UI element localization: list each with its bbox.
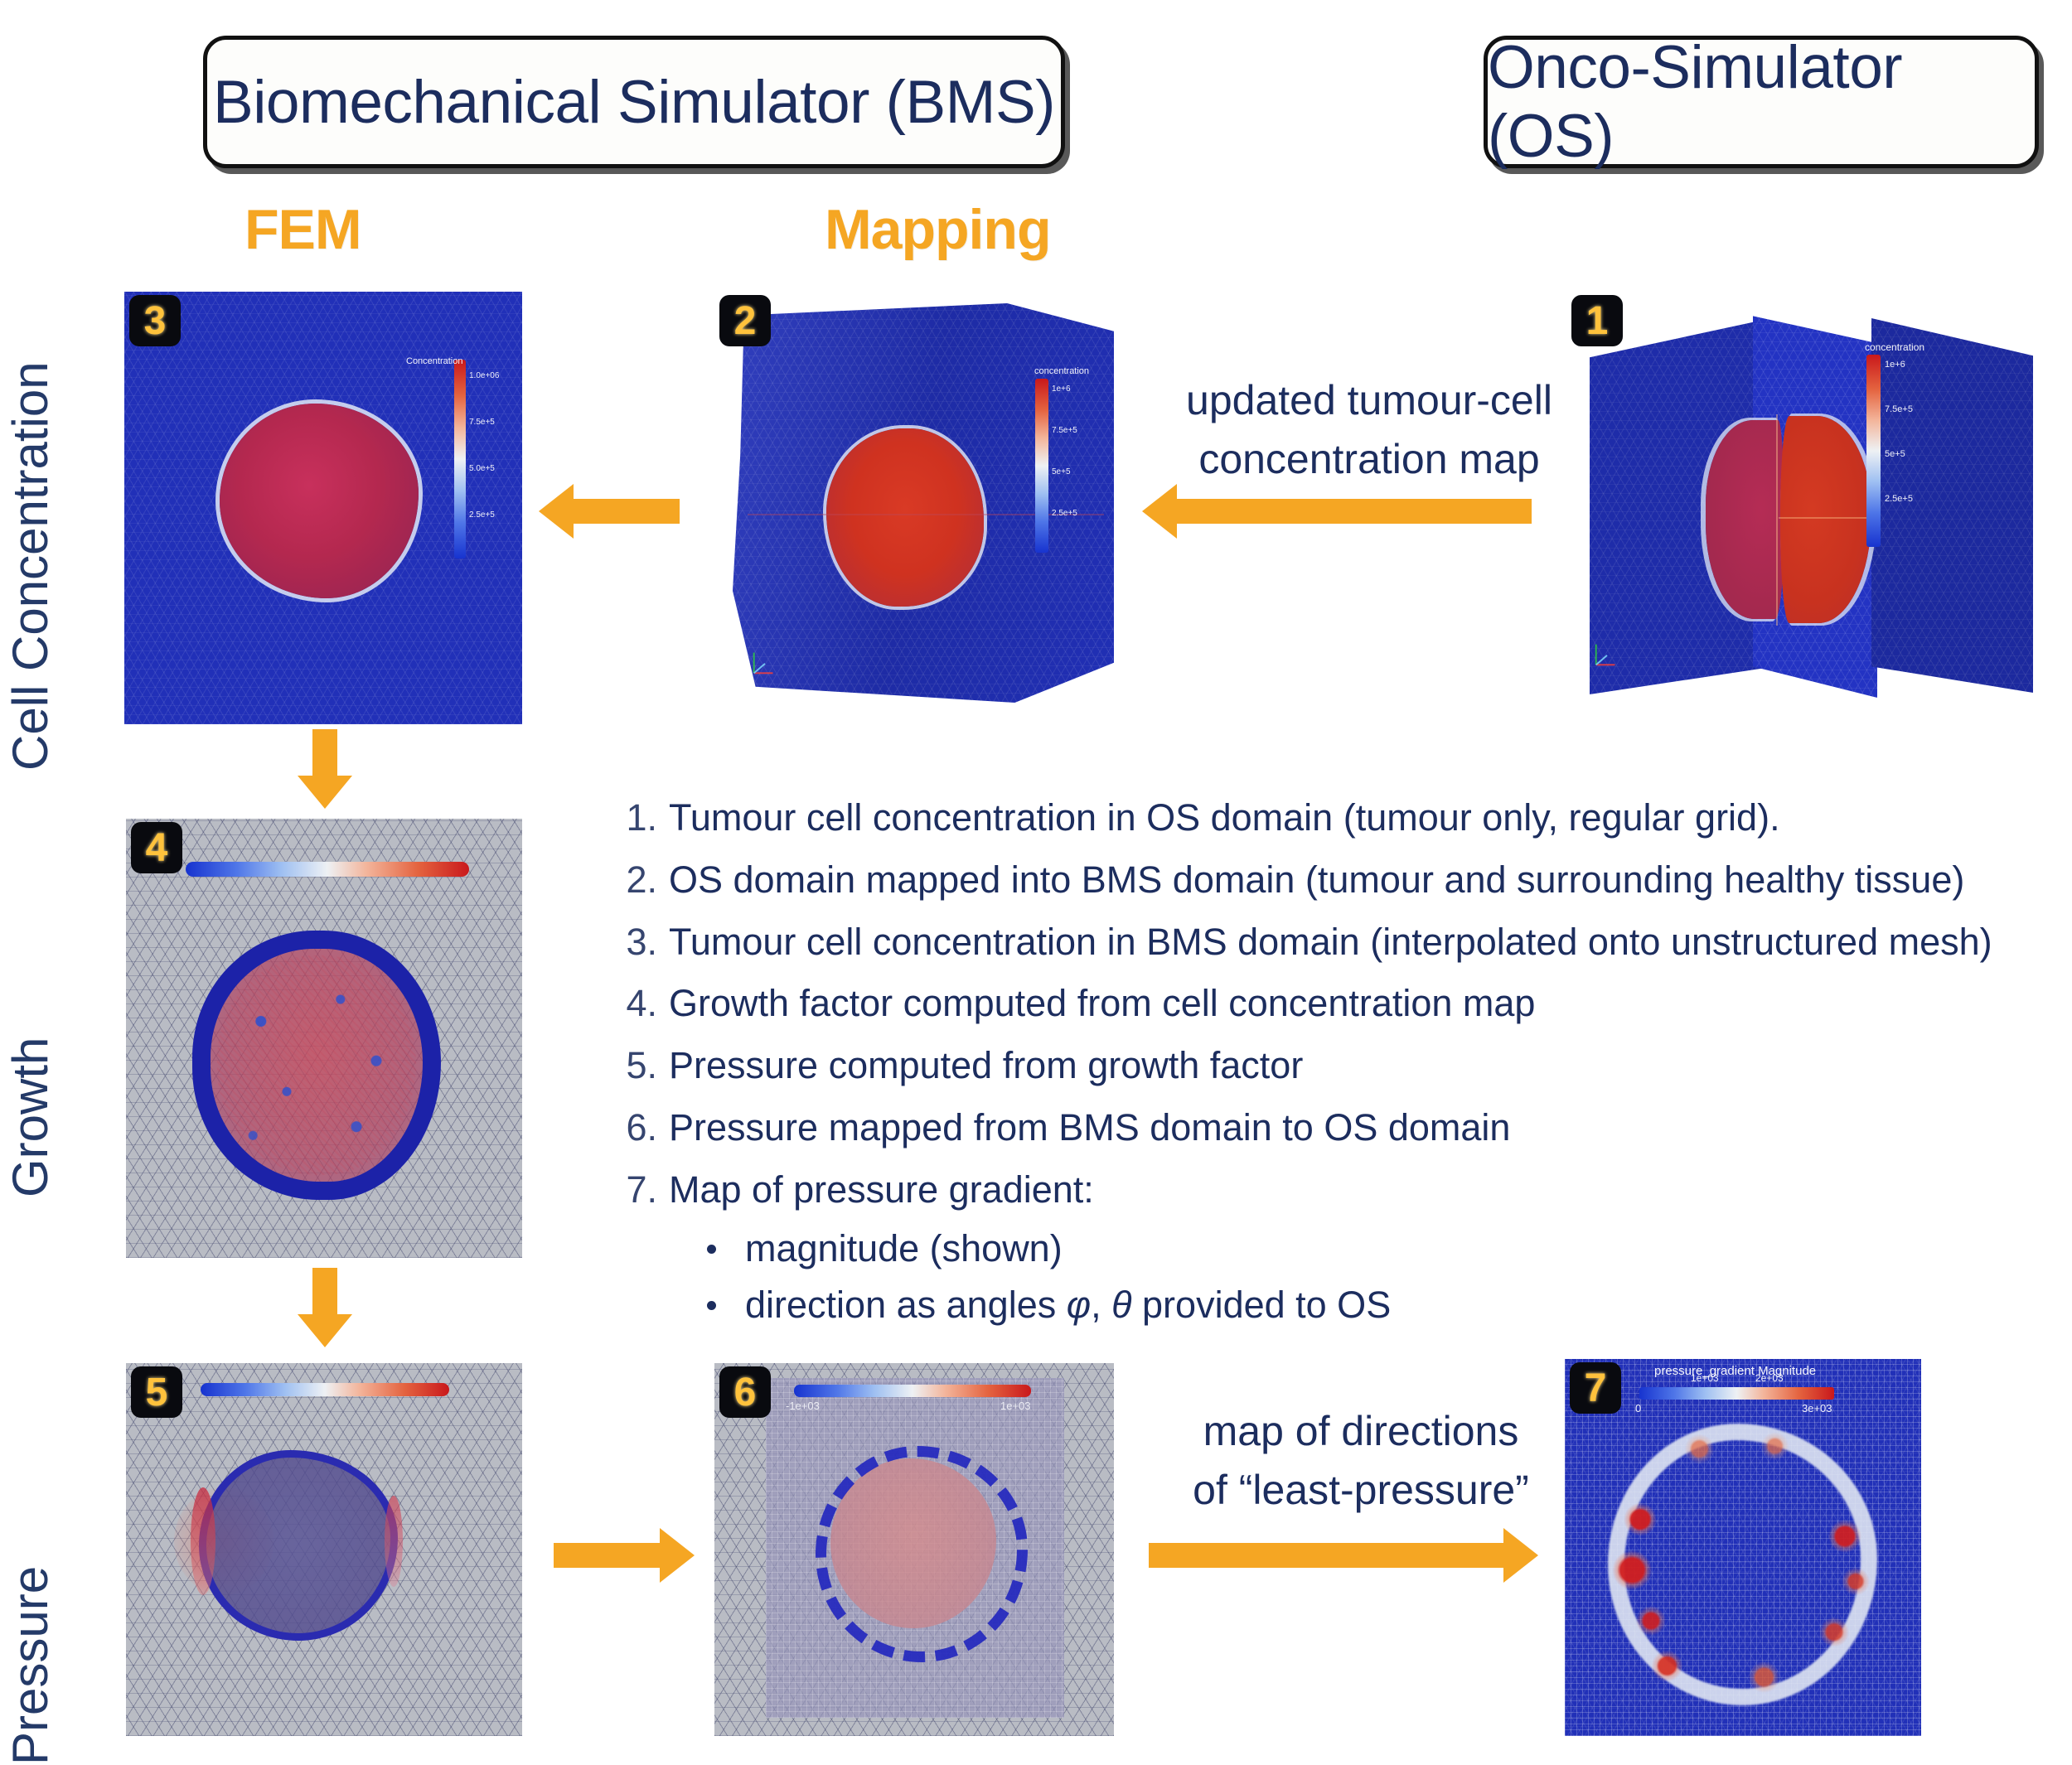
step-item-3: 3. Tumour cell concentration in BMS doma…: [609, 916, 2051, 970]
os-domain-right-wing: [1871, 318, 2033, 693]
panel-4-badge: 4: [131, 822, 182, 873]
step-number-1: 1.: [609, 791, 657, 845]
step-number-7: 7.: [609, 1163, 657, 1217]
arrow-panel3-to-panel4: [312, 729, 337, 777]
panel-5-pressure-fem[interactable]: 5: [126, 1363, 522, 1736]
panel-3-colorbar-title: Concentration: [406, 356, 463, 366]
panel-3-colorbar-tick-1: 7.5e+5: [469, 418, 495, 427]
panel-1-colorbar-tick-1: 7.5e+5: [1885, 404, 1913, 414]
step-text-7: Map of pressure gradient:: [669, 1168, 1094, 1211]
panel-7-colorbar-tick-3: 3e+03: [1802, 1402, 1832, 1414]
sub-bullet-magnitude-text: magnitude (shown): [745, 1227, 1063, 1269]
step-text-4: Growth factor computed from cell concent…: [669, 982, 1535, 1024]
step-text-6: Pressure mapped from BMS domain to OS do…: [669, 1106, 1510, 1148]
slice-seam-line: [1776, 414, 1778, 626]
step-text-5: Pressure computed from growth factor: [669, 1044, 1303, 1086]
os-title-box: Onco-Simulator (OS): [1484, 36, 2039, 168]
step-number-2: 2.: [609, 853, 657, 907]
row-label-cell-concentration: Cell Concentration: [2, 273, 59, 771]
panel-7-colorbar-title: pressure_gradient Magnitude: [1654, 1364, 1816, 1378]
step-7-sub-bullets: magnitude (shown) direction as angles φ,…: [669, 1222, 2051, 1333]
panel-6-colorbar-tick-max: 1e+03: [1000, 1400, 1031, 1412]
axes-triad-icon: [1591, 638, 1623, 670]
panel-5-colorbar: [201, 1383, 449, 1396]
bullet-dot-icon: [707, 1301, 716, 1310]
bullet-dot-icon: [707, 1245, 716, 1254]
arrow-caption-line-1: updated tumour-cell: [1154, 371, 1585, 430]
steps-list: 1. Tumour cell concentration in OS domai…: [609, 791, 2051, 1341]
panel-7-badge: 7: [1570, 1362, 1621, 1414]
sub-bullet-direction: direction as angles φ, θ provided to OS: [669, 1279, 2051, 1332]
step-number-4: 4.: [609, 977, 657, 1031]
os-title-text: Onco-Simulator (OS): [1488, 33, 2035, 171]
step-item-5: 5. Pressure computed from growth factor: [609, 1039, 2051, 1093]
panel-3-fem-concentration[interactable]: 3 Concentration 1.0e+06 7.5e+5 5.0e+5 2.…: [124, 292, 522, 724]
step-item-1: 1. Tumour cell concentration in OS domai…: [609, 791, 2051, 845]
step-number-6: 6.: [609, 1101, 657, 1155]
panel-3-colorbar-tick-3: 2.5e+5: [469, 510, 495, 520]
arrow-caption-least-pressure: map of directions of “least-pressure”: [1154, 1402, 1568, 1520]
panel-7-pressure-gradient[interactable]: 7 pressure_gradient Magnitude 0 1e+03 2e…: [1565, 1359, 1921, 1736]
slice-seam-line-h: [1779, 517, 1876, 519]
column-header-fem: FEM: [244, 197, 361, 262]
panel-6-colorbar-tick-min: -1e+03: [786, 1400, 820, 1412]
arrow-panel5-to-panel6: [554, 1543, 661, 1568]
panel-2-colorbar-tick-0: 1e+6: [1052, 384, 1071, 394]
panel-2-badge: 2: [719, 295, 771, 346]
bms-title-text: Biomechanical Simulator (BMS): [213, 68, 1055, 137]
panel-1-colorbar-title: concentration: [1865, 341, 1924, 353]
step-text-2: OS domain mapped into BMS domain (tumour…: [669, 858, 1964, 901]
panel-6-pressure-mapped[interactable]: 6 -1e+03 1e+03: [714, 1363, 1114, 1736]
sub-bullet-direction-post: provided to OS: [1132, 1284, 1392, 1326]
row-label-pressure: Pressure: [2, 1434, 59, 1765]
step-item-4: 4. Growth factor computed from cell conc…: [609, 977, 2051, 1031]
pressure-edge-red-left: [191, 1487, 215, 1595]
panel-5-badge: 5: [131, 1366, 182, 1418]
pressure-edge-red-right: [385, 1496, 403, 1587]
panel-2-mapped-block[interactable]: 2 concentration 1e+6 7.5e+5 5e+5 2.5e+5: [714, 292, 1137, 724]
panel-1-os-domain[interactable]: 1 concentration 1e+6 7.5e+5 5e+5 2.5e+5: [1566, 292, 2064, 724]
panel-7-colorbar-tick-0: 0: [1635, 1402, 1641, 1414]
panel-1-colorbar-tick-3: 2.5e+5: [1885, 494, 1913, 504]
step-item-7: 7. Map of pressure gradient: magnitude (…: [609, 1163, 2051, 1332]
column-header-mapping: Mapping: [825, 197, 1051, 262]
symbol-phi: φ: [1067, 1284, 1091, 1326]
panel-3-badge: 3: [129, 295, 181, 346]
tumour-region: [826, 428, 984, 607]
slice-plane-line-h: [748, 514, 1104, 515]
panel-1-colorbar: [1866, 355, 1881, 547]
steps-ordered-list: 1. Tumour cell concentration in OS domai…: [609, 791, 2051, 1332]
panel-7-colorbar-tick-1: 1e+03: [1691, 1372, 1719, 1384]
arrow-caption-line-2: concentration map: [1154, 430, 1585, 489]
panel-7-colorbar-tick-2: 2e+03: [1755, 1372, 1784, 1384]
step-item-6: 6. Pressure mapped from BMS domain to OS…: [609, 1101, 2051, 1155]
panel-2-colorbar: [1035, 379, 1048, 553]
panel-1-colorbar-tick-2: 5e+5: [1885, 449, 1905, 459]
panel-2-colorbar-tick-1: 7.5e+5: [1052, 426, 1077, 435]
arrow-caption-bottom-line-2: of “least-pressure”: [1154, 1461, 1568, 1520]
step-item-2: 2. OS domain mapped into BMS domain (tum…: [609, 853, 2051, 907]
step-text-3: Tumour cell concentration in BMS domain …: [669, 921, 1992, 963]
sub-bullet-direction-pre: direction as angles: [745, 1284, 1067, 1326]
pressure-gradient-ring: [816, 1446, 1028, 1662]
pressure-gradient-hotspots: [1608, 1424, 1877, 1705]
step-text-1: Tumour cell concentration in OS domain (…: [669, 796, 1780, 839]
axes-triad-icon: [749, 646, 781, 678]
panel-4-colorbar: [186, 862, 469, 877]
arrow-os-to-mapping: [1175, 499, 1532, 524]
arrow-mapping-to-fem: [572, 499, 680, 524]
sub-bullet-direction-sep: ,: [1091, 1284, 1111, 1326]
panel-3-colorbar-tick-0: 1.0e+06: [469, 371, 499, 380]
panel-3-colorbar-tick-2: 5.0e+5: [469, 464, 495, 473]
panel-6-colorbar: [794, 1385, 1031, 1397]
growth-speckle-overlay: [217, 955, 416, 1175]
bms-title-box: Biomechanical Simulator (BMS): [203, 36, 1065, 168]
arrow-caption-bottom-line-1: map of directions: [1154, 1402, 1568, 1461]
sub-bullet-magnitude: magnitude (shown): [669, 1222, 2051, 1276]
panel-2-colorbar-tick-2: 5e+5: [1052, 467, 1071, 476]
arrow-panel6-to-panel7: [1149, 1543, 1505, 1568]
tumour-pressure-region: [199, 1450, 398, 1641]
panel-7-colorbar: [1639, 1387, 1834, 1400]
panel-4-growth-factor[interactable]: 4: [126, 819, 522, 1258]
panel-6-badge: 6: [719, 1366, 771, 1418]
panel-1-badge: 1: [1571, 295, 1623, 346]
panel-3-colorbar: [454, 360, 466, 559]
step-number-5: 5.: [609, 1039, 657, 1093]
arrow-panel4-to-panel5: [312, 1268, 337, 1316]
arrow-caption-updated-concentration: updated tumour-cell concentration map: [1154, 371, 1585, 489]
panel-2-colorbar-title: concentration: [1034, 366, 1089, 376]
panel-1-colorbar-tick-0: 1e+6: [1885, 360, 1905, 370]
panel-2-colorbar-tick-3: 2.5e+5: [1052, 509, 1077, 518]
step-number-3: 3.: [609, 916, 657, 970]
row-label-growth: Growth: [2, 899, 59, 1197]
tumour-region: [220, 404, 419, 598]
symbol-theta: θ: [1111, 1284, 1131, 1326]
